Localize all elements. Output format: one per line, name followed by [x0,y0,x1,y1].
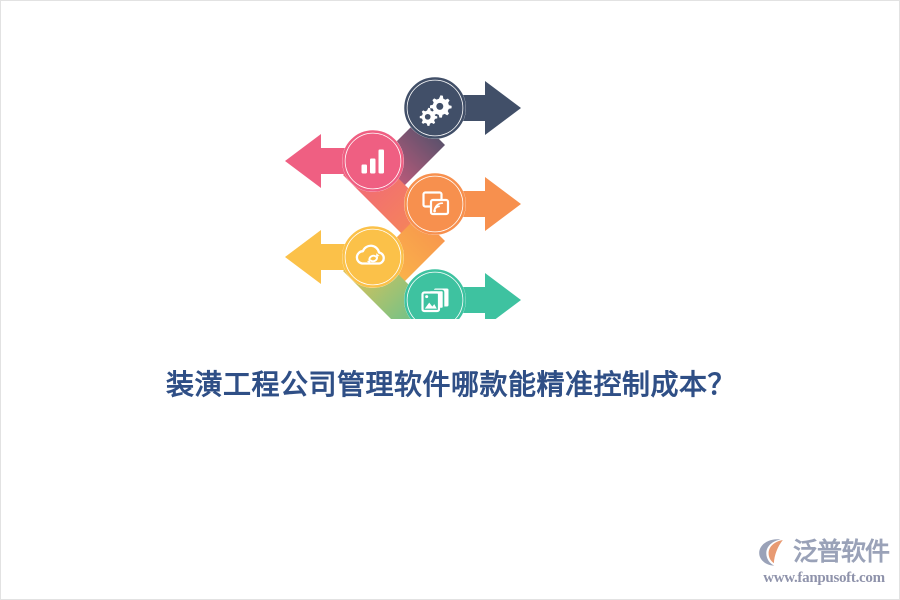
watermark-logo: 泛普软件 www.fanpusoft.com [757,535,891,591]
node-screen-cast[interactable] [404,173,466,235]
node-bar-chart[interactable] [342,130,404,192]
fanpusoft-logo-icon [757,536,791,568]
watermark-url-text: www.fanpusoft.com [757,570,891,587]
watermark-brand-text: 泛普软件 [793,540,889,565]
node-gears[interactable] [404,77,466,139]
infographic-graphic [269,63,537,319]
watermark-brand-row: 泛普软件 [757,535,891,569]
node-gallery[interactable] [404,269,466,319]
page-title: 装潢工程公司管理软件哪款能精准控制成本？ [1,363,900,403]
page-root: 装潢工程公司管理软件哪款能精准控制成本？ 泛普软件 www.fanpusoft.… [0,0,900,600]
node-cloud-sync[interactable] [342,226,404,288]
